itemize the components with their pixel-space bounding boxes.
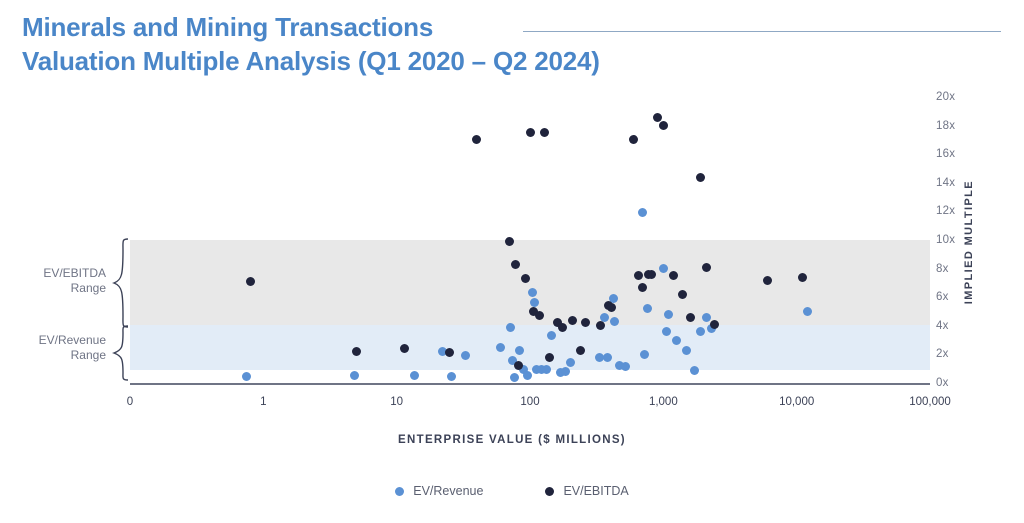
revenue-range-brace-icon (112, 325, 130, 381)
ebitda-range-label-line2: Range (10, 281, 106, 296)
scatter-point-ev-ebitda[interactable] (696, 173, 705, 182)
scatter-point-ev-revenue[interactable] (447, 372, 456, 381)
scatter-point-ev-ebitda[interactable] (246, 277, 255, 286)
x-tick-label-1: 1 (260, 396, 266, 408)
scatter-point-ev-revenue[interactable] (702, 313, 711, 322)
band-ev-revenue-range (130, 325, 930, 370)
scatter-point-ev-revenue[interactable] (242, 372, 251, 381)
scatter-point-ev-revenue[interactable] (690, 366, 699, 375)
scatter-point-ev-ebitda[interactable] (638, 283, 647, 292)
scatter-point-ev-revenue[interactable] (610, 317, 619, 326)
scatter-point-ev-ebitda[interactable] (545, 353, 554, 362)
scatter-point-ev-ebitda[interactable] (702, 263, 711, 272)
legend-label-ev-ebitda: EV/EBITDA (563, 484, 628, 498)
plot-area (130, 90, 930, 385)
y-tick-label-16x: 16x (936, 148, 980, 160)
scatter-point-ev-ebitda[interactable] (540, 128, 549, 137)
scatter-point-ev-ebitda[interactable] (514, 361, 523, 370)
scatter-point-ev-revenue[interactable] (662, 327, 671, 336)
ebitda-range-label-line1: EV/EBITDA (10, 266, 106, 281)
legend-item-ev-ebitda[interactable]: EV/EBITDA (545, 484, 628, 498)
y-tick-label-2x: 2x (936, 348, 980, 360)
scatter-point-ev-revenue[interactable] (643, 304, 652, 313)
x-tick-label-100000: 100,000 (909, 396, 951, 408)
scatter-point-ev-revenue[interactable] (696, 327, 705, 336)
revenue-range-label-line2: Range (10, 348, 106, 363)
ebitda-range-annotation: EV/EBITDA Range (10, 266, 106, 296)
page-title: Minerals and Mining Transactions Valuati… (22, 10, 762, 78)
revenue-range-annotation: EV/Revenue Range (10, 333, 106, 363)
y-tick-label-0x: 0x (936, 377, 980, 389)
scatter-point-ev-revenue[interactable] (638, 208, 647, 217)
x-tick-label-1000: 1,000 (649, 396, 678, 408)
revenue-range-label-line1: EV/Revenue (10, 333, 106, 348)
ebitda-range-brace-icon (112, 238, 130, 328)
scatter-point-ev-ebitda[interactable] (653, 113, 662, 122)
scatter-point-ev-revenue[interactable] (672, 336, 681, 345)
scatter-point-ev-revenue[interactable] (803, 307, 812, 316)
x-axis-line (130, 383, 930, 385)
scatter-point-ev-ebitda[interactable] (763, 276, 772, 285)
scatter-point-ev-revenue[interactable] (561, 367, 570, 376)
legend-item-ev-revenue[interactable]: EV/Revenue (395, 484, 483, 498)
scatter-point-ev-ebitda[interactable] (505, 237, 514, 246)
chart-page: Minerals and Mining Transactions Valuati… (0, 0, 1024, 523)
scatter-point-ev-ebitda[interactable] (558, 323, 567, 332)
scatter-point-ev-ebitda[interactable] (472, 135, 481, 144)
x-axis-title: ENTERPRISE VALUE ($ MILLIONS) (0, 434, 1024, 446)
y-tick-label-4x: 4x (936, 320, 980, 332)
scatter-point-ev-ebitda[interactable] (607, 303, 616, 312)
scatter-point-ev-ebitda[interactable] (629, 135, 638, 144)
scatter-point-ev-revenue[interactable] (510, 373, 519, 382)
scatter-point-ev-ebitda[interactable] (511, 260, 520, 269)
scatter-point-ev-revenue[interactable] (496, 343, 505, 352)
scatter-point-ev-ebitda[interactable] (576, 346, 585, 355)
scatter-point-ev-revenue[interactable] (621, 362, 630, 371)
y-axis-title: IMPLIED MULTIPLE (963, 180, 975, 304)
scatter-point-ev-revenue[interactable] (542, 365, 551, 374)
scatter-point-ev-ebitda[interactable] (710, 320, 719, 329)
scatter-point-ev-revenue[interactable] (515, 346, 524, 355)
scatter-point-ev-ebitda[interactable] (352, 347, 361, 356)
scatter-point-ev-ebitda[interactable] (526, 128, 535, 137)
chart-legend: EV/Revenue EV/EBITDA (0, 484, 1024, 498)
legend-dot-icon-ev-ebitda (545, 487, 554, 496)
scatter-point-ev-revenue[interactable] (682, 346, 691, 355)
title-divider (523, 31, 1001, 32)
scatter-point-ev-ebitda[interactable] (686, 313, 695, 322)
scatter-point-ev-revenue[interactable] (350, 371, 359, 380)
legend-label-ev-revenue: EV/Revenue (413, 484, 483, 498)
title-line-2: Valuation Multiple Analysis (Q1 2020 – Q… (22, 44, 762, 78)
scatter-point-ev-ebitda[interactable] (521, 274, 530, 283)
scatter-point-ev-revenue[interactable] (523, 371, 532, 380)
scatter-point-ev-revenue[interactable] (640, 350, 649, 359)
title-line-1: Minerals and Mining Transactions (22, 10, 762, 44)
x-tick-label-0: 0 (127, 396, 133, 408)
legend-dot-icon-ev-revenue (395, 487, 404, 496)
scatter-point-ev-revenue[interactable] (410, 371, 419, 380)
y-tick-label-18x: 18x (936, 120, 980, 132)
x-tick-label-100: 100 (520, 396, 539, 408)
scatter-point-ev-ebitda[interactable] (798, 273, 807, 282)
scatter-point-ev-ebitda[interactable] (659, 121, 668, 130)
x-tick-label-10: 10 (390, 396, 403, 408)
y-tick-label-20x: 20x (936, 91, 980, 103)
x-tick-label-10000: 10,000 (779, 396, 814, 408)
scatter-point-ev-revenue[interactable] (659, 264, 668, 273)
